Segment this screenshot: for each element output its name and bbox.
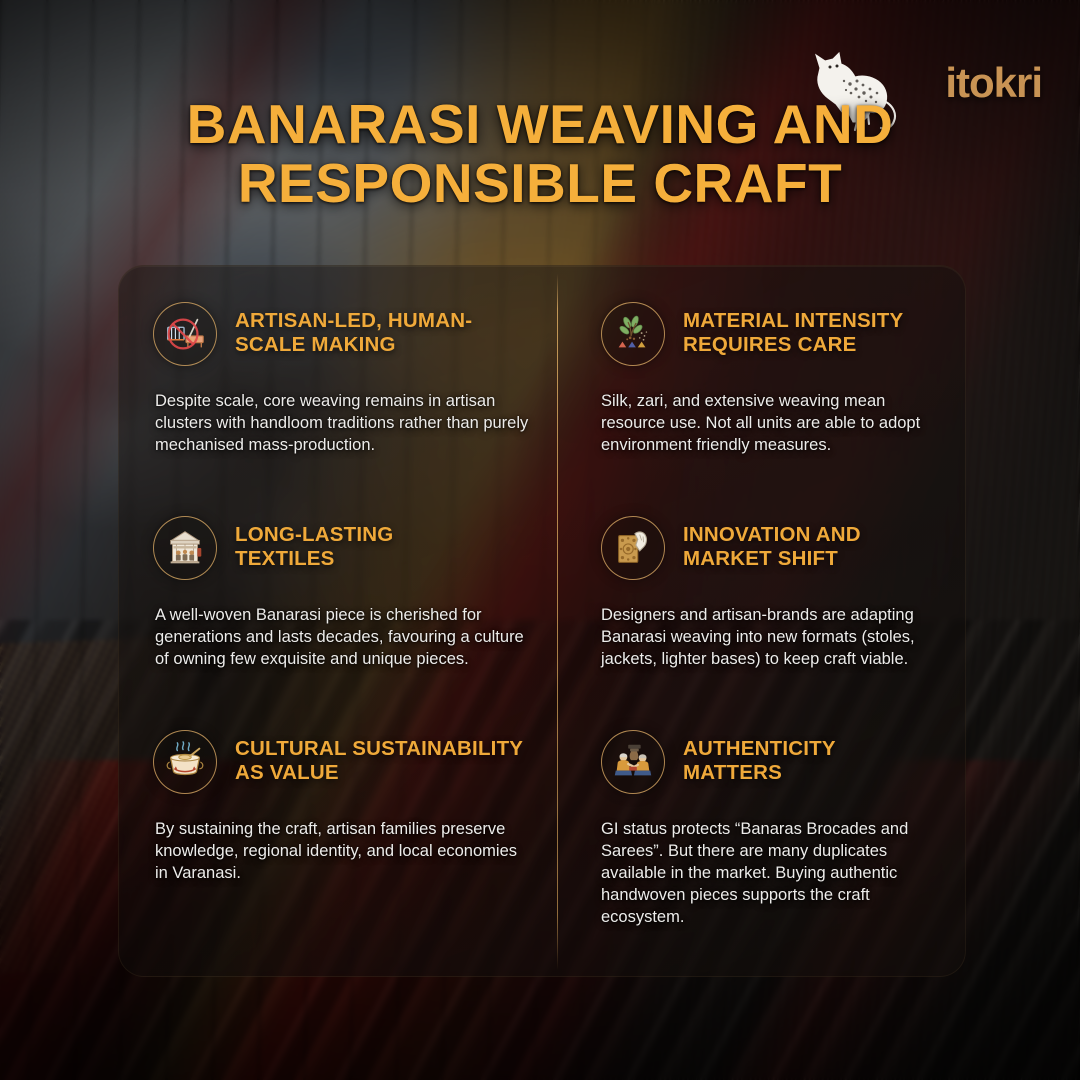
card-header: INNOVATION AND MARKET SHIFT (601, 516, 943, 580)
card-body: Silk, zari, and extensive weaving mean r… (601, 390, 943, 456)
hand-holding-fabric-icon (601, 516, 665, 580)
card-cultural-sustainability: CULTURAL SUSTAINABILITY AS VALUE By sust… (119, 730, 557, 944)
card-header: AUTHENTICITY MATTERS (601, 730, 943, 794)
card-body: By sustaining the craft, artisan familie… (155, 818, 531, 884)
poster-header: itokri BANARASI WEAVING AND RESPONSIBLE … (0, 0, 1080, 250)
page-title-line-1: BANARASI WEAVING AND (90, 95, 990, 154)
card-title: INNOVATION AND MARKET SHIFT (683, 516, 861, 571)
card-authenticity-matters: AUTHENTICITY MATTERS GI status protects … (557, 730, 967, 944)
card-title: LONG-LASTING TEXTILES (235, 516, 393, 571)
card-title: AUTHENTICITY MATTERS (683, 730, 836, 785)
card-title: MATERIAL INTENSITY REQUIRES CARE (683, 302, 903, 357)
card-header: LONG-LASTING TEXTILES (153, 516, 531, 580)
two-artisans-icon (601, 730, 665, 794)
leaves-and-dyes-icon (601, 302, 665, 366)
infographic-poster: itokri BANARASI WEAVING AND RESPONSIBLE … (0, 0, 1080, 1080)
page-title: BANARASI WEAVING AND RESPONSIBLE CRAFT (90, 95, 990, 213)
card-header: ARTISAN-LED, HUMAN- SCALE MAKING (153, 302, 531, 366)
card-artisan-led: ARTISAN-LED, HUMAN- SCALE MAKING Despite… (119, 302, 557, 516)
steaming-pot-icon (153, 730, 217, 794)
card-long-lasting-textiles: LONG-LASTING TEXTILES A well-woven Banar… (119, 516, 557, 730)
card-body: Designers and artisan-brands are adaptin… (601, 604, 943, 670)
card-innovation-market-shift: INNOVATION AND MARKET SHIFT Designers an… (557, 516, 967, 730)
craft-shop-icon (153, 516, 217, 580)
card-title: CULTURAL SUSTAINABILITY AS VALUE (235, 730, 523, 785)
no-power-loom-icon (153, 302, 217, 366)
card-body: Despite scale, core weaving remains in a… (155, 390, 531, 456)
card-body: A well-woven Banarasi piece is cherished… (155, 604, 531, 670)
card-material-intensity: MATERIAL INTENSITY REQUIRES CARE Silk, z… (557, 302, 967, 516)
cards-grid: ARTISAN-LED, HUMAN- SCALE MAKING Despite… (119, 266, 965, 976)
card-header: CULTURAL SUSTAINABILITY AS VALUE (153, 730, 531, 794)
card-title: ARTISAN-LED, HUMAN- SCALE MAKING (235, 302, 472, 357)
card-header: MATERIAL INTENSITY REQUIRES CARE (601, 302, 943, 366)
page-title-line-2: RESPONSIBLE CRAFT (90, 154, 990, 213)
content-panel: ARTISAN-LED, HUMAN- SCALE MAKING Despite… (118, 265, 966, 977)
card-body: GI status protects “Banaras Brocades and… (601, 818, 943, 929)
